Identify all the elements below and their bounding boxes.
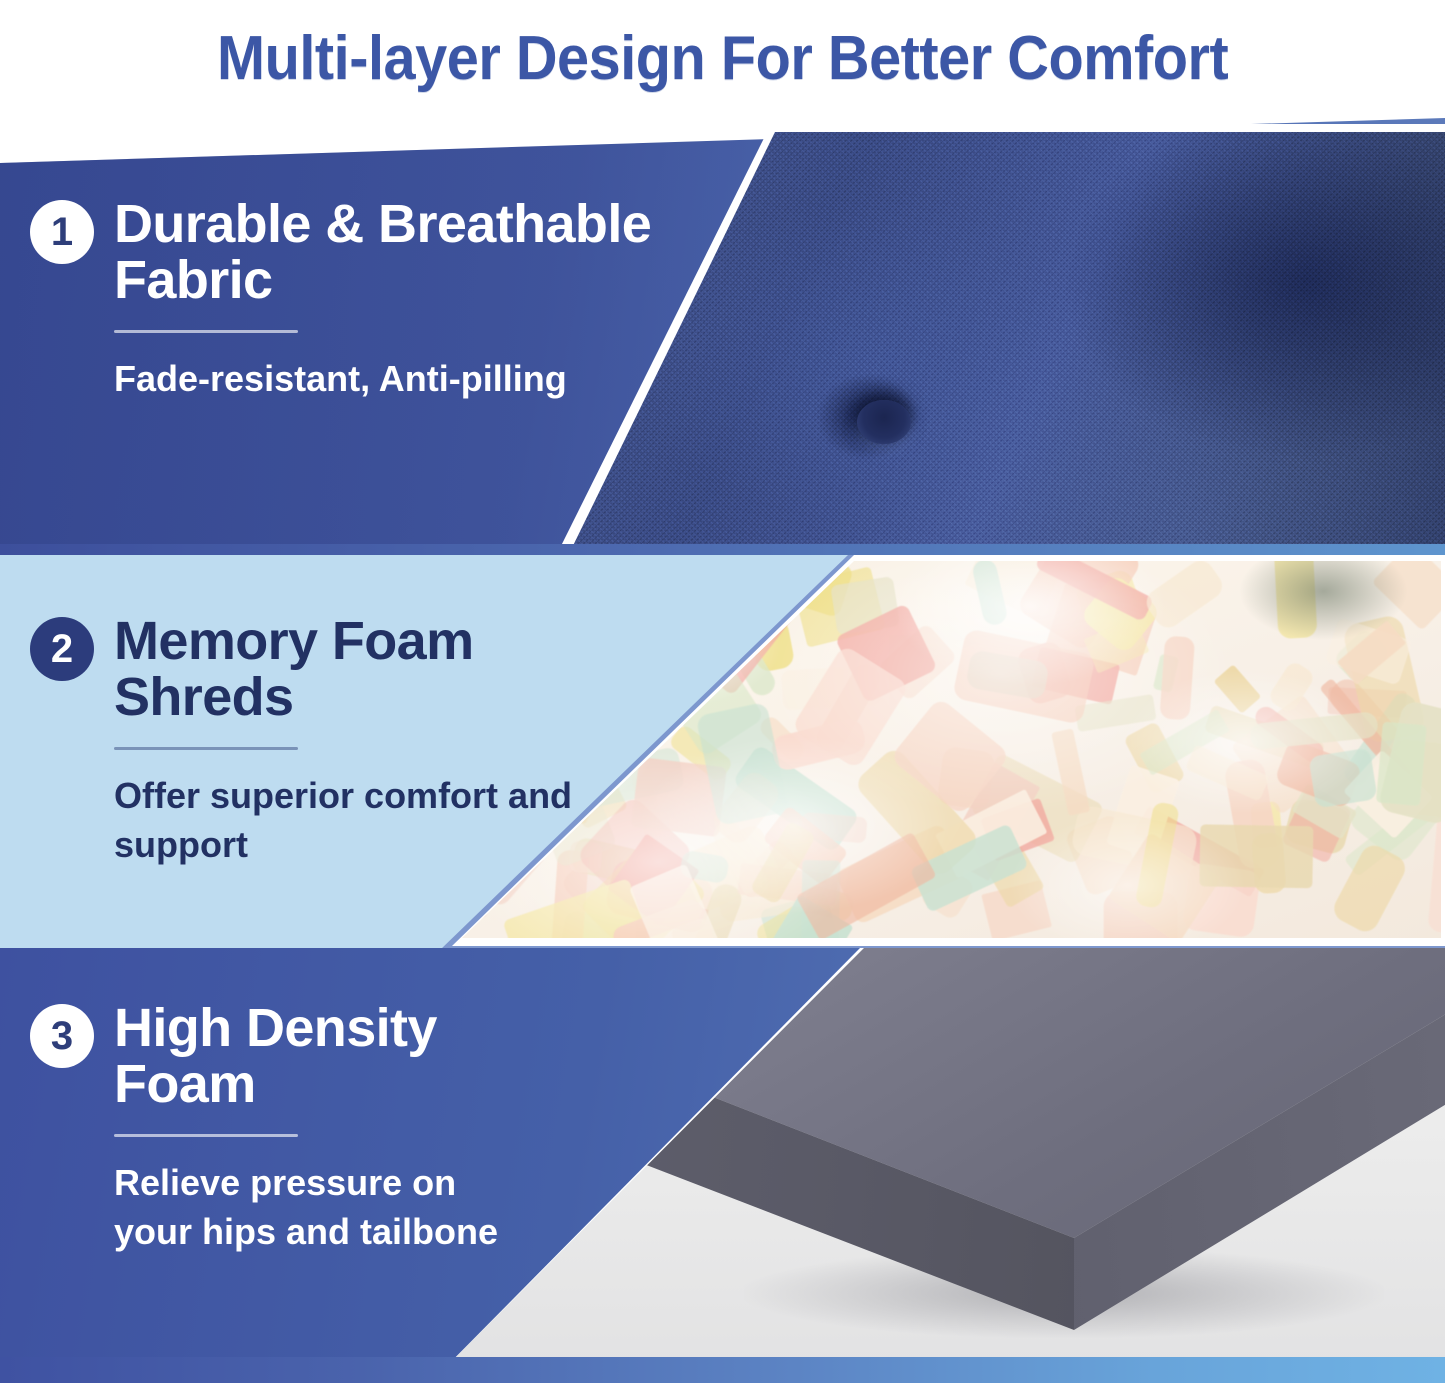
foam-chip [1376,722,1427,806]
foam-chip [1204,704,1326,770]
foam-chip [757,713,808,764]
foam-chip [1031,647,1120,706]
foam-chip [1308,747,1377,808]
foam-chip [631,757,726,837]
foam-chip [982,880,1053,938]
step-number-badge-1: 1 [30,200,94,264]
foam-chip [1267,660,1317,715]
foam-chip [952,628,1096,724]
foam-chip [1016,561,1144,653]
foam-chip [769,716,867,773]
foam-chip [1337,620,1406,685]
foam-chip [966,650,1051,701]
panel-2-divider [114,747,298,750]
foam-chip [1074,694,1156,732]
foam-chip [1214,664,1262,713]
foam-chip [1344,777,1441,877]
foam-chip [812,660,884,756]
feature-panel-2: 2 Memory Foam Shreds Offer superior comf… [0,555,1445,950]
foam-chip [796,832,937,938]
foam-chip [713,852,806,923]
foam-chip [1282,797,1353,857]
panel-3-heading-row: 3 High Density Foam [30,1000,534,1112]
foam-chip [603,857,715,935]
foam-chip [760,892,845,938]
foam-chip [835,822,967,925]
foam-chip [791,645,909,770]
foam-chip [831,577,901,636]
foam-chip [1319,677,1412,783]
foam-chip [936,746,996,811]
panel-3-subtext: Relieve pressure on your hips and tailbo… [114,1159,514,1255]
foam-chip [969,753,1104,865]
foam-chip [1051,728,1090,816]
foam-chip [1291,783,1358,840]
foam-chip [1377,700,1441,827]
foam-chip [1341,613,1426,744]
foam-chip [1388,739,1441,820]
foam-chip [877,623,958,702]
foam-chip [853,746,981,880]
foam-chip [1231,694,1353,815]
foam-chip [804,885,856,923]
fabric-tufted-button [857,400,911,444]
foam-chip [1324,617,1412,685]
foam-chip [1104,892,1178,938]
panel-2-subtext: Offer superior comfort and support [114,772,584,868]
foam-chip [1084,617,1151,673]
foam-chip [1345,755,1441,865]
foam-chip [709,817,772,901]
foam-chip [750,820,817,905]
foam-chip [1324,674,1407,763]
foam-chip [801,811,868,842]
foam-chip [610,897,704,938]
foam-chip [835,604,938,704]
foam-chip [1106,764,1180,859]
foam-chip [1343,749,1434,839]
foam-chip [1327,687,1407,718]
foam-chip [943,762,1040,881]
foam-chip [1016,640,1075,708]
foam-chip [1079,573,1162,655]
foam-chip [1107,832,1221,938]
foam-chip [670,916,717,938]
foam-chip [1140,709,1230,775]
foam-chip [1428,807,1441,935]
panel-1-subtext: Fade-resistant, Anti-pilling [114,355,584,403]
foam-chip [630,863,739,938]
foam-chip [1134,805,1265,896]
foam-chip [1159,636,1194,721]
feature-panel-3: 3 High Density Foam Relieve pressure on … [0,948,1445,1383]
foam-chip [1045,583,1157,676]
page-title: Multi-layer Design For Better Comfort [217,28,1228,90]
foam-chip [1182,863,1261,938]
foam-chip [1250,801,1283,848]
panel-1-divider [114,330,298,333]
panel-3-divider [114,1134,298,1137]
foam-chip [1281,788,1352,863]
foam-chip [1252,703,1328,766]
panel-2-heading: Memory Foam Shreds [114,613,614,725]
foam-chip [1069,804,1199,878]
foam-chip [1340,697,1407,764]
foam-chip [695,701,788,826]
foam-chip [749,894,854,938]
foam-chip [910,824,1029,913]
foam-chip [1200,824,1314,888]
foam-chip [1332,627,1391,686]
panel-2-content: 2 Memory Foam Shreds Offer superior comf… [30,613,614,869]
foam-chip [733,837,795,900]
foam-chip [708,767,783,848]
foam-chip [1123,721,1185,794]
feature-panel-1: 1 Durable & Breathable Fabric Fade-resis… [0,118,1445,558]
step-number-badge-3: 3 [30,1004,94,1068]
foam-chip [1073,567,1140,621]
foam-chip [560,909,649,938]
foam-chip [667,723,733,783]
panel-3-heading: High Density Foam [114,1000,534,1112]
foam-chip [754,903,825,938]
foam-chip [1273,739,1363,810]
foam-chip [502,878,648,938]
foam-chip [1064,813,1141,897]
foam-chip [1185,743,1270,801]
foam-chip [682,881,746,938]
foam-chip [1340,689,1419,788]
foam-chip [607,834,699,927]
foam-chip [1134,801,1179,909]
foam-chip [919,863,976,921]
foam-chip [1249,711,1379,750]
foam-chip [732,744,861,854]
foam-chip [935,789,1047,879]
foam-chip [1153,654,1179,693]
foam-chip [1329,841,1410,937]
foam-chip [1035,561,1154,622]
foam-chip [1223,758,1281,871]
bottom-accent-strip [0,1357,1445,1383]
foam-chip [964,561,1065,620]
panel-1-heading: Durable & Breathable Fabric [114,196,674,308]
foam-chip [971,561,1009,627]
foam-chip [800,860,839,938]
foam-chip [762,805,849,886]
panel-1-heading-row: 1 Durable & Breathable Fabric [30,196,674,308]
foam-chip [781,665,883,710]
step-number-badge-2: 2 [30,617,94,681]
foam-chip [972,823,1045,908]
foam-chip [1372,561,1441,631]
panel-3-content: 3 High Density Foam Relieve pressure on … [30,1000,534,1256]
panel-1-content: 1 Durable & Breathable Fabric Fade-resis… [30,196,674,404]
foam-chip [630,765,665,839]
foam-chip [678,822,783,913]
foam-chip [1273,561,1317,639]
foam-chip [679,849,730,884]
foam-chip [1141,561,1227,633]
panel-2-heading-row: 2 Memory Foam Shreds [30,613,614,725]
foam-chip [737,863,838,906]
foam-chip [889,696,1011,816]
foam-chip [980,798,1055,862]
page-title-bar: Multi-layer Design For Better Comfort [0,0,1445,118]
foam-chip [1252,833,1287,895]
